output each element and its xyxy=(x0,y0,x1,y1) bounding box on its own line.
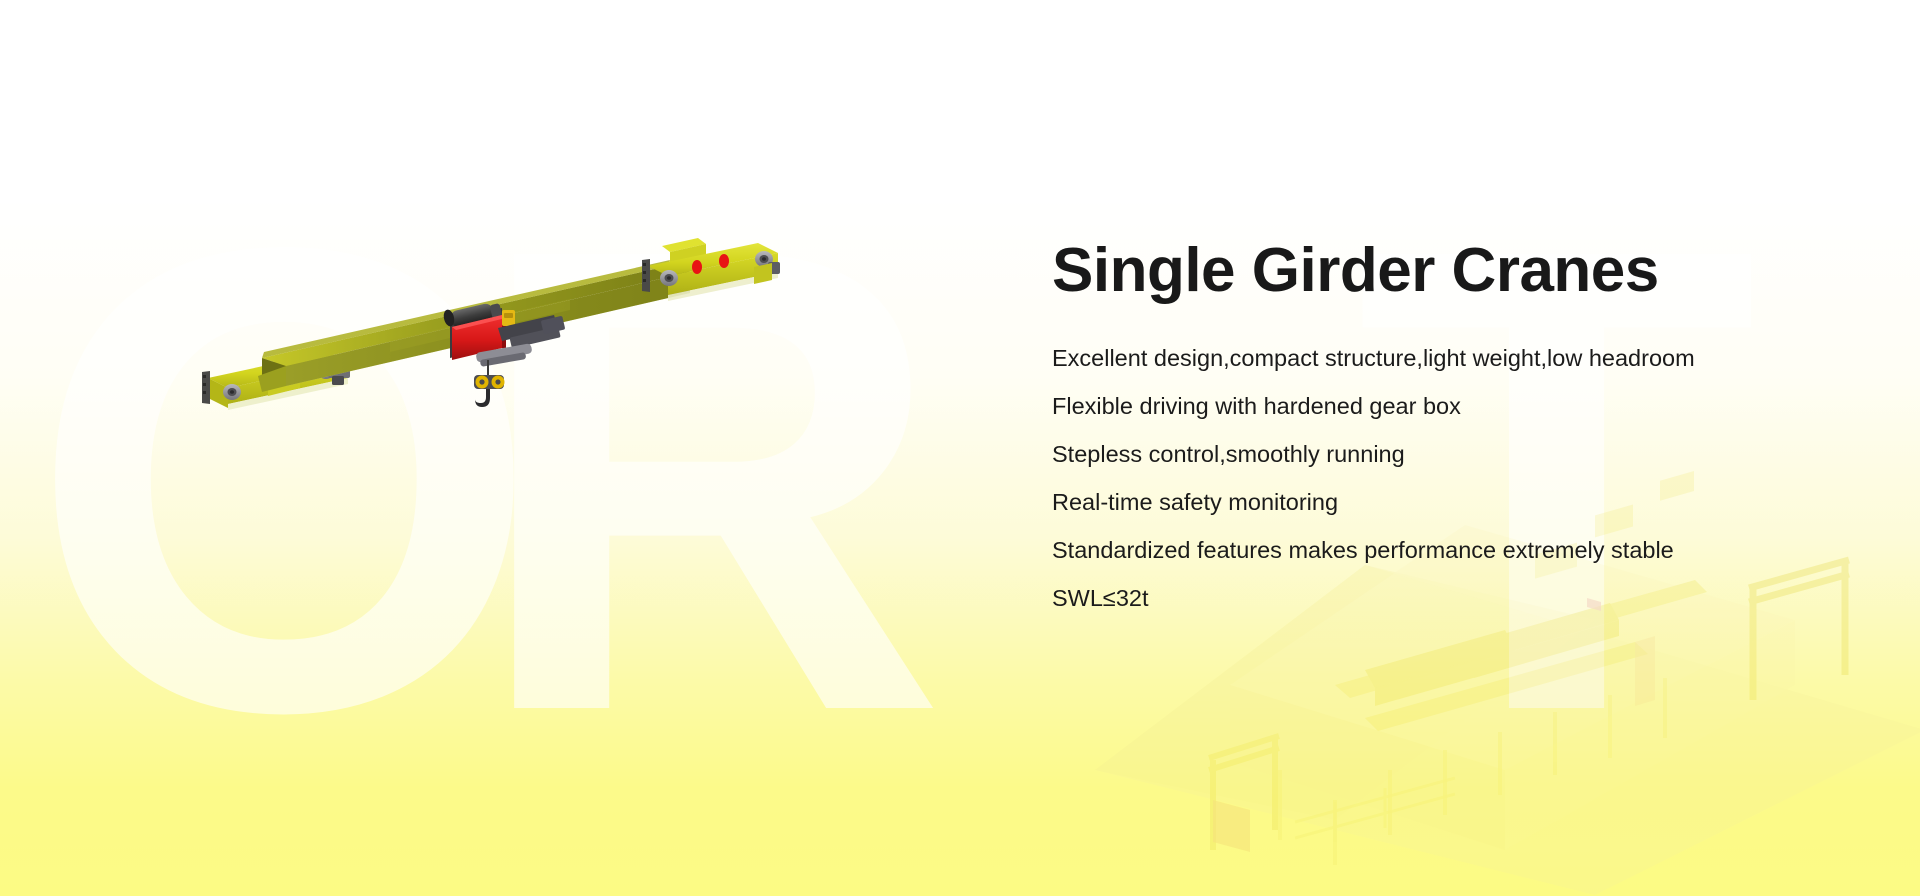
wheel-assembly-left xyxy=(223,384,241,400)
single-girder-crane-illustration xyxy=(150,200,850,460)
hook-block xyxy=(474,375,505,407)
indicator-lamp-1 xyxy=(692,260,702,274)
feature-list: Excellent design,compact structure,light… xyxy=(1052,347,1872,611)
feature-item-4: Real-time safety monitoring xyxy=(1052,491,1872,515)
feature-item-1: Excellent design,compact structure,light… xyxy=(1052,347,1872,371)
page-title: Single Girder Cranes xyxy=(1052,238,1872,303)
indicator-lamp-2 xyxy=(719,254,729,268)
hoist-trolley xyxy=(442,302,565,407)
slide-root: O R T xyxy=(0,0,1920,896)
feature-item-6: SWL≤32t xyxy=(1052,587,1872,611)
wheel-assembly-right-inner xyxy=(660,270,678,286)
feature-item-5: Standardized features makes performance … xyxy=(1052,539,1872,563)
content-column: Single Girder Cranes Excellent design,co… xyxy=(1052,238,1872,635)
feature-item-2: Flexible driving with hardened gear box xyxy=(1052,395,1872,419)
crane-hook xyxy=(475,389,490,407)
feature-item-3: Stepless control,smoothly running xyxy=(1052,443,1872,467)
